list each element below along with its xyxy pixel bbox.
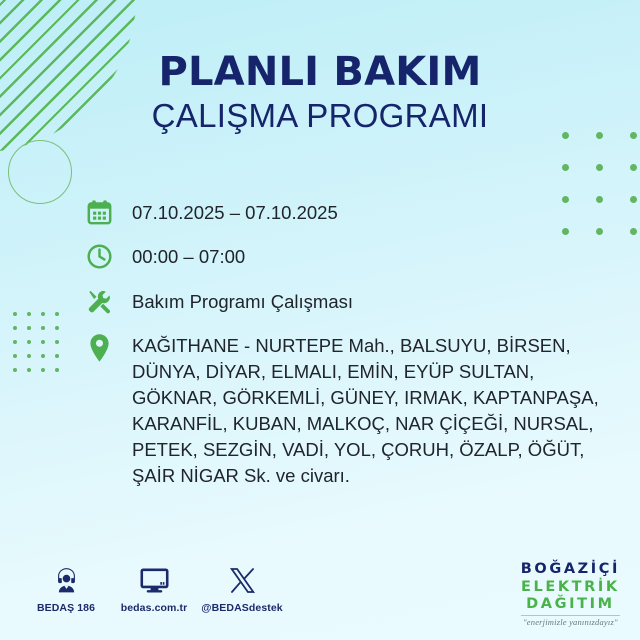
address-value: KAĞITHANE - NURTEPE Mah., BALSUYU, BİRSE… xyxy=(132,332,599,489)
bogazici-elektrik-dagitim-logo: BOĞAZİÇİ ELEKTRİK DAĞITIM "enerjimizle y… xyxy=(521,562,620,626)
detail-row-address: KAĞITHANE - NURTEPE Mah., BALSUYU, BİRSE… xyxy=(86,332,596,489)
address-line: KAĞITHANE - NURTEPE Mah., BALSUYU, BİRSE… xyxy=(132,333,599,359)
address-line: ŞAİR NİGAR Sk. ve civarı. xyxy=(132,463,599,489)
dot-grid-left-decoration xyxy=(8,307,64,377)
maintenance-details: 07.10.2025 – 07.10.2025 00:00 – 07:00 Ba… xyxy=(86,198,596,489)
clock-icon xyxy=(86,242,132,270)
detail-row-time: 00:00 – 07:00 xyxy=(86,242,596,270)
circle-outline-decoration xyxy=(8,140,72,204)
address-line: KARANFİL, KUBAN, MALKOÇ, NAR ÇİÇEĞİ, NUR… xyxy=(132,411,599,437)
calendar-icon xyxy=(86,198,132,226)
work-type-value: Bakım Programı Çalışması xyxy=(132,287,353,312)
poster-footer: BEDAŞ 186 bedas.com.tr xyxy=(0,560,640,640)
channel-website-label: bedas.com.tr xyxy=(121,602,188,614)
brand-line-1: BOĞAZİÇİ xyxy=(521,562,620,577)
location-pin-icon xyxy=(86,332,132,363)
address-line: PETEK, SEZGİN, VADİ, YOL, ÇORUH, ÖZALP, … xyxy=(132,437,599,463)
channel-phone[interactable]: BEDAŞ 186 xyxy=(22,565,110,614)
address-line: GÖKNAR, GÖRKEMLİ, GÜNEY, IRMAK, KAPTANPA… xyxy=(132,385,599,411)
contact-channels: BEDAŞ 186 bedas.com.tr xyxy=(22,565,286,614)
brand-line-2: ELEKTRİK xyxy=(521,580,620,595)
address-line: DÜNYA, DİYAR, ELMALI, EMİN, EYÜP SULTAN, xyxy=(132,359,599,385)
x-twitter-icon xyxy=(229,565,256,595)
channel-website[interactable]: bedas.com.tr xyxy=(110,565,198,614)
brand-line-3: DAĞITIM xyxy=(521,597,620,612)
page-title: PLANLI BAKIM xyxy=(0,52,640,94)
support-agent-icon xyxy=(53,565,80,595)
date-range-value: 07.10.2025 – 07.10.2025 xyxy=(132,198,338,223)
brand-tagline: "enerjimizle yanınızdayız" xyxy=(521,615,620,627)
channel-x-label: @BEDASdestek xyxy=(201,602,282,614)
monitor-icon xyxy=(140,565,169,595)
poster-header: PLANLI BAKIM ÇALIŞMA PROGRAMI xyxy=(0,52,640,135)
detail-row-work-type: Bakım Programı Çalışması xyxy=(86,287,596,315)
detail-row-date: 07.10.2025 – 07.10.2025 xyxy=(86,198,596,226)
channel-x[interactable]: @BEDASdestek xyxy=(198,565,286,614)
page-subtitle: ÇALIŞMA PROGRAMI xyxy=(0,98,640,135)
tools-icon xyxy=(86,287,132,315)
channel-phone-label: BEDAŞ 186 xyxy=(37,602,95,614)
planned-maintenance-poster: PLANLI BAKIM ÇALIŞMA PROGRAMI 07 xyxy=(0,0,640,640)
time-range-value: 00:00 – 07:00 xyxy=(132,242,245,267)
